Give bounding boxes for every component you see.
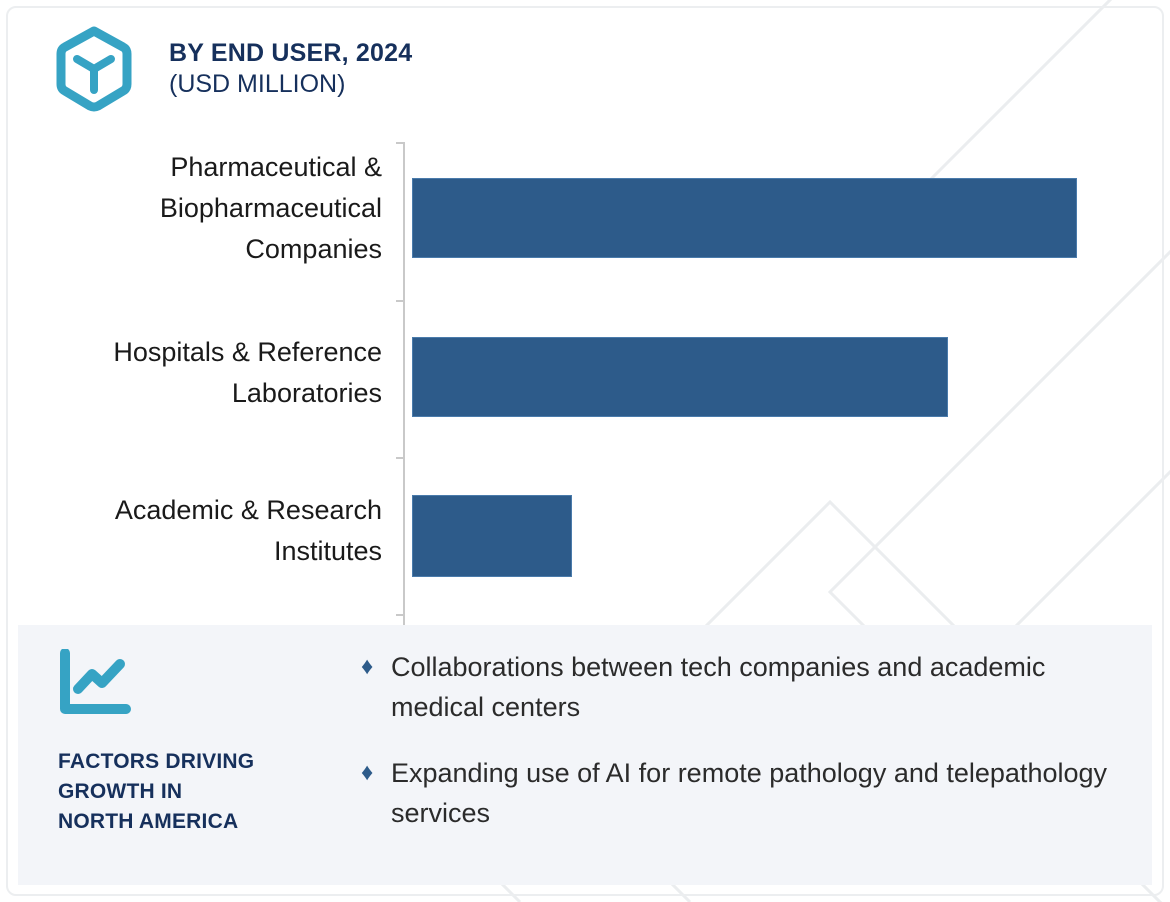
diamond-bullet-icon: ♦ xyxy=(361,647,391,687)
category-label-line: Companies xyxy=(10,229,382,270)
growth-factors-list: ♦ Collaborations between tech companies … xyxy=(361,647,1131,859)
chart-category-row: Hospitals & Reference Laboratories xyxy=(0,300,1170,457)
category-label: Hospitals & Reference Laboratories xyxy=(10,332,382,414)
category-label-line: Laboratories xyxy=(10,373,382,414)
bar-chart: Pharmaceutical & Biopharmaceutical Compa… xyxy=(0,132,1170,624)
bar-academic-research-institutes xyxy=(412,495,572,577)
category-label-line: Biopharmaceutical xyxy=(10,188,382,229)
diamond-bullet-icon: ♦ xyxy=(361,753,391,793)
list-item: ♦ Expanding use of AI for remote patholo… xyxy=(361,753,1131,833)
chart-category-row: Academic & Research Institutes xyxy=(0,457,1170,624)
hexagon-cube-icon xyxy=(55,26,133,112)
panel-heading-line: NORTH AMERICA xyxy=(58,807,348,837)
list-item-text: Expanding use of AI for remote pathology… xyxy=(391,753,1131,833)
category-label: Academic & Research Institutes xyxy=(10,490,382,572)
infographic-card: BY END USER, 2024 (USD MILLION) Pharmace… xyxy=(0,0,1170,902)
bar-hospitals-reference-laboratories xyxy=(412,337,948,417)
chart-category-row: Pharmaceutical & Biopharmaceutical Compa… xyxy=(0,132,1170,300)
category-label-line: Pharmaceutical & xyxy=(10,147,382,188)
page-title: BY END USER, 2024 xyxy=(169,38,412,69)
panel-heading: FACTORS DRIVING GROWTH IN NORTH AMERICA xyxy=(58,747,348,838)
category-label-line: Academic & Research xyxy=(10,490,382,531)
panel-heading-line: FACTORS DRIVING xyxy=(58,747,348,777)
bar-pharmaceutical-biopharmaceutical-companies xyxy=(412,178,1077,258)
list-item-text: Collaborations between tech companies an… xyxy=(391,647,1131,727)
panel-left-column: FACTORS DRIVING GROWTH IN NORTH AMERICA xyxy=(58,649,348,838)
list-item: ♦ Collaborations between tech companies … xyxy=(361,647,1131,727)
panel-heading-line: GROWTH IN xyxy=(58,777,348,807)
line-chart-growth-icon xyxy=(58,649,136,717)
category-label-line: Hospitals & Reference xyxy=(10,332,382,373)
factors-driving-growth-panel: FACTORS DRIVING GROWTH IN NORTH AMERICA … xyxy=(18,625,1152,885)
page-subtitle: (USD MILLION) xyxy=(169,69,412,100)
category-label-line: Institutes xyxy=(10,531,382,572)
chart-header: BY END USER, 2024 (USD MILLION) xyxy=(55,26,412,112)
category-label: Pharmaceutical & Biopharmaceutical Compa… xyxy=(10,147,382,270)
